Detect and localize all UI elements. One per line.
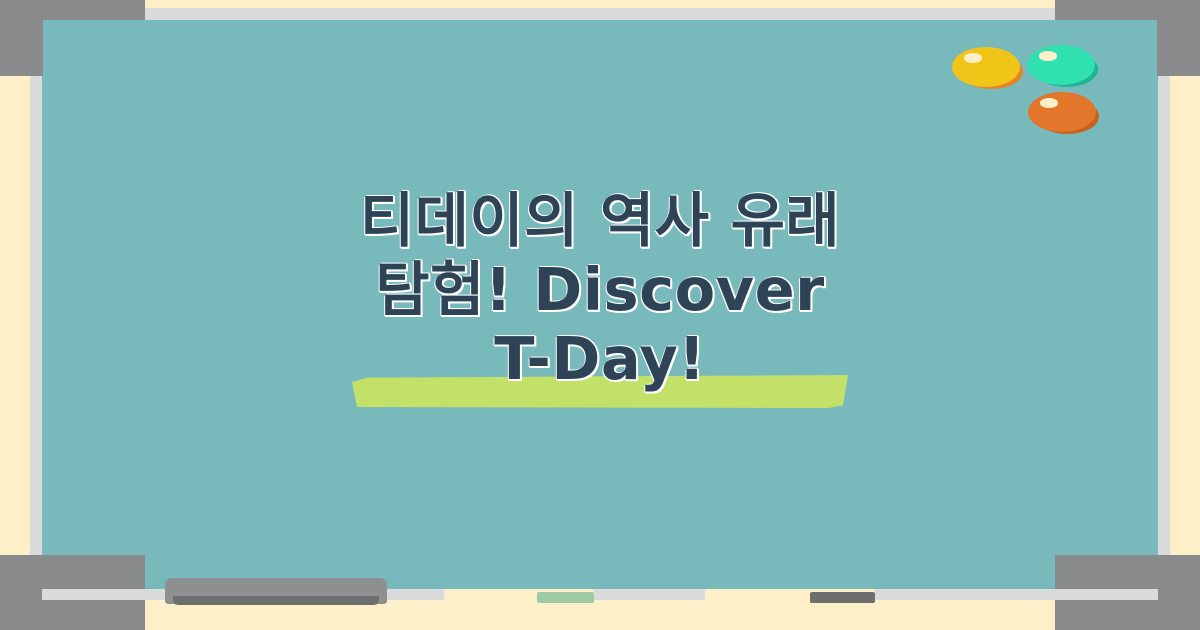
corner-bracket-bottom-right [1157, 555, 1200, 630]
yellow-pebble-icon [952, 47, 1020, 87]
pebble-glint-icon [964, 53, 982, 63]
corner-bracket-top-right [1157, 0, 1200, 76]
title-block: 티데이의 역사 유래 탐험! Discover T-Day! [42, 186, 1158, 393]
green-chalk-icon [444, 589, 594, 601]
corner-bracket-bottom-left [0, 555, 43, 630]
thumbnail-canvas: 티데이의 역사 유래 탐험! Discover T-Day! [0, 0, 1200, 630]
chalkboard-eraser-base [173, 596, 379, 605]
page-title: 티데이의 역사 유래 탐험! Discover T-Day! [42, 186, 1158, 393]
corner-bracket-top-left [0, 0, 43, 76]
pebble-glint-icon [1039, 51, 1057, 61]
orange-pebble-icon [1028, 92, 1096, 132]
pebble-glint-icon [1040, 98, 1058, 108]
mint-pebble-icon [1027, 45, 1095, 85]
grey-chalk-icon [705, 589, 875, 601]
